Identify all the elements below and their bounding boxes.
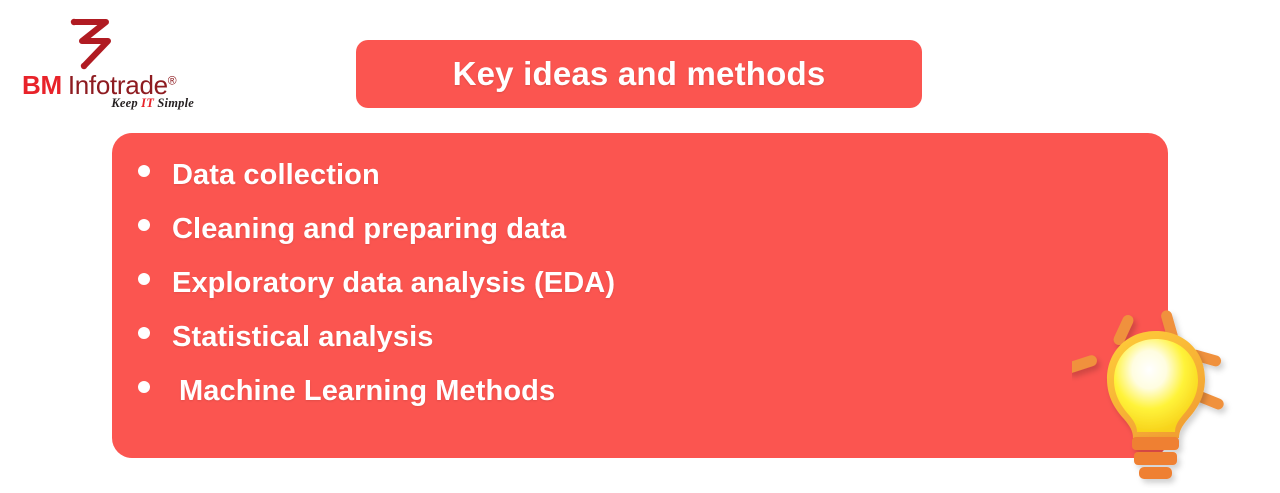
bullet-dot-icon [138,165,150,177]
list-item-label: Statistical analysis [172,321,434,354]
registered-trademark-icon: ® [168,73,177,87]
list-item-label: Cleaning and preparing data [172,213,566,246]
brand-logo: BMInfotrade® Keep IT Simple [22,16,197,116]
list-item: Cleaning and preparing data [138,213,615,267]
list-item-label: Data collection [172,159,380,192]
list-item: Data collection [138,159,615,213]
bullet-dot-icon [138,381,150,393]
slide-canvas: BMInfotrade® Keep IT Simple Key ideas an… [0,0,1280,488]
tagline-suffix: Simple [154,96,194,110]
lightbulb-icon [1072,300,1262,488]
list-item: Machine Learning Methods [138,375,615,429]
list-item-label: Machine Learning Methods [179,375,555,408]
content-panel: Data collection Cleaning and preparing d… [112,133,1168,458]
page-title: Key ideas and methods [453,55,826,93]
bullet-dot-icon [138,273,150,285]
bullet-dot-icon [138,327,150,339]
list-item-label: Exploratory data analysis (EDA) [172,267,615,300]
key-ideas-list: Data collection Cleaning and preparing d… [138,159,615,429]
bm-infotrade-zigzag-mark-icon [62,16,124,72]
list-item: Exploratory data analysis (EDA) [138,267,615,321]
tagline-highlight: IT [141,96,154,110]
bullet-dot-icon [138,219,150,231]
brand-tagline: Keep IT Simple [22,96,197,111]
page-title-pill: Key ideas and methods [356,40,922,108]
tagline-prefix: Keep [111,96,141,110]
list-item: Statistical analysis [138,321,615,375]
